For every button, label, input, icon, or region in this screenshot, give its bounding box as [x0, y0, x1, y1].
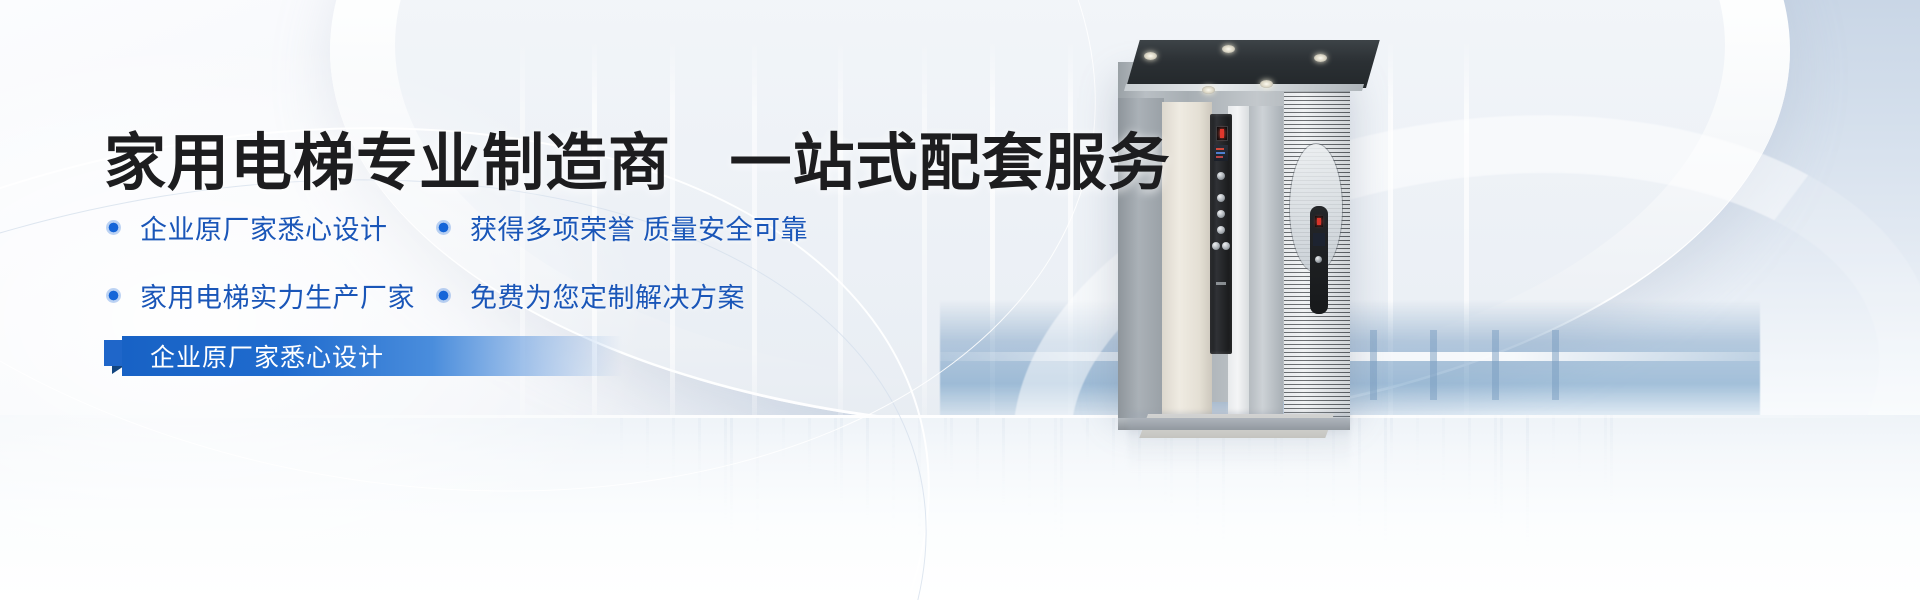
page-title: 家用电梯专业制造商 一站式配套服务: [104, 112, 1171, 202]
list-item: 企业原厂家悉心设计: [106, 208, 436, 247]
headline-secondary: 一站式配套服务: [729, 129, 1170, 198]
headline-primary: 家用电梯专业制造商: [104, 129, 671, 198]
feature-label: 免费为您定制解决方案: [470, 276, 745, 315]
list-item: 获得多项荣誉 质量安全可靠: [436, 208, 808, 247]
feature-row: 家用电梯实力生产厂家 免费为您定制解决方案: [106, 276, 1006, 315]
bullet-dot-icon: [106, 220, 121, 235]
bullet-dot-icon: [106, 288, 121, 303]
ribbon-bar: 企业原厂家悉心设计: [122, 336, 622, 376]
highlight-ribbon: 企业原厂家悉心设计: [104, 336, 664, 378]
feature-label: 家用电梯实力生产厂家: [140, 276, 415, 315]
promo-banner: 家用电梯专业制造商 一站式配套服务 企业原厂家悉心设计 获得多项荣誉 质量安全可…: [0, 0, 1920, 600]
feature-label: 企业原厂家悉心设计: [140, 208, 388, 247]
feature-label: 获得多项荣誉 质量安全可靠: [470, 208, 808, 247]
feature-row: 企业原厂家悉心设计 获得多项荣誉 质量安全可靠: [106, 208, 1006, 247]
bullet-dot-icon: [436, 288, 451, 303]
feature-list: 企业原厂家悉心设计 获得多项荣誉 质量安全可靠 家用电梯实力生产厂家 免费为您定…: [106, 208, 1006, 344]
banner-content: 家用电梯专业制造商 一站式配套服务 企业原厂家悉心设计 获得多项荣誉 质量安全可…: [0, 0, 1920, 600]
list-item: 家用电梯实力生产厂家: [106, 276, 436, 315]
ribbon-label: 企业原厂家悉心设计: [150, 338, 384, 374]
bullet-dot-icon: [436, 220, 451, 235]
list-item: 免费为您定制解决方案: [436, 276, 745, 315]
